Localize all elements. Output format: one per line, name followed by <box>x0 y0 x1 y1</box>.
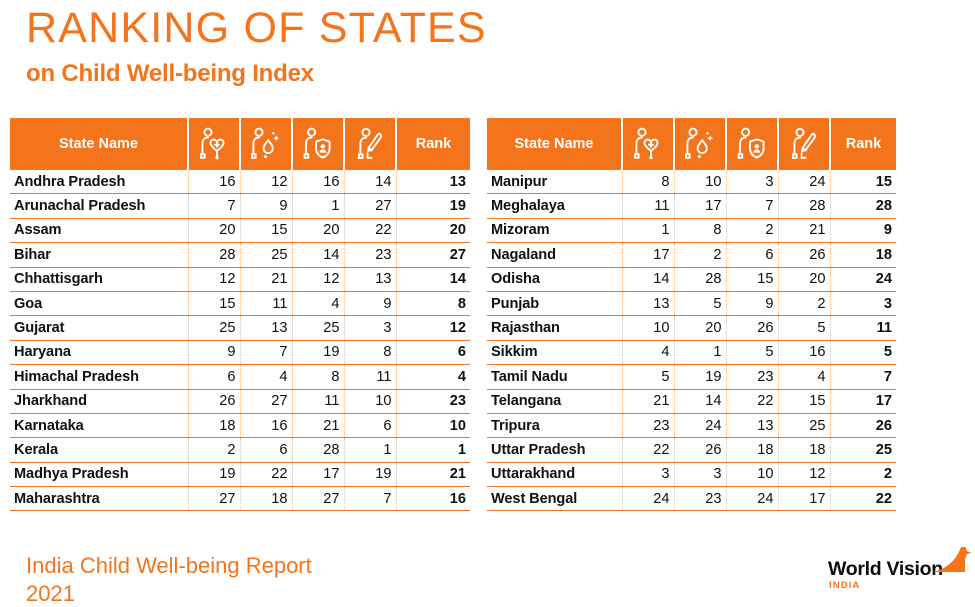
table-row: Uttar Pradesh2226181825 <box>487 438 896 462</box>
cell-water-rank: 18 <box>240 487 292 511</box>
logo-swoosh-star-icon <box>932 546 972 583</box>
table-row: Goa1511498 <box>10 291 470 315</box>
cell-health-rank: 25 <box>188 316 240 340</box>
column-header-health <box>622 118 674 170</box>
column-header-water-sanitation <box>240 118 292 170</box>
cell-protection-rank: 26 <box>726 316 778 340</box>
cell-water-rank: 24 <box>674 413 726 437</box>
cell-water-rank: 28 <box>674 267 726 291</box>
cell-state-name: Telangana <box>487 389 622 413</box>
cell-education-rank: 10 <box>344 389 396 413</box>
cell-health-rank: 17 <box>622 243 674 267</box>
cell-health-rank: 13 <box>622 291 674 315</box>
cell-health-rank: 23 <box>622 413 674 437</box>
cell-education-rank: 4 <box>778 365 830 389</box>
cell-protection-rank: 2 <box>726 218 778 242</box>
cell-health-rank: 26 <box>188 389 240 413</box>
table-row: Tamil Nadu5192347 <box>487 365 896 389</box>
world-vision-india-logo: World Vision INDIA <box>828 548 968 594</box>
cell-education-rank: 16 <box>778 340 830 364</box>
cell-protection-rank: 23 <box>726 365 778 389</box>
cell-state-name: Nagaland <box>487 243 622 267</box>
cell-overall-rank: 11 <box>830 316 896 340</box>
person-heart-health-icon <box>189 127 239 161</box>
report-title-line1: India Child Well-being Report <box>26 552 312 580</box>
cell-health-rank: 16 <box>188 170 240 194</box>
cell-health-rank: 5 <box>622 365 674 389</box>
cell-health-rank: 27 <box>188 487 240 511</box>
cell-overall-rank: 3 <box>830 291 896 315</box>
table-row: West Bengal2423241722 <box>487 487 896 511</box>
cell-health-rank: 3 <box>622 462 674 486</box>
cell-water-rank: 19 <box>674 365 726 389</box>
cell-education-rank: 11 <box>344 365 396 389</box>
table-row: Telangana2114221517 <box>487 389 896 413</box>
table-row: Madhya Pradesh1922171921 <box>10 462 470 486</box>
report-title-footer: India Child Well-being Report 2021 <box>26 552 312 607</box>
cell-protection-rank: 4 <box>292 291 344 315</box>
cell-state-name: Tamil Nadu <box>487 365 622 389</box>
table-row: Mizoram182219 <box>487 218 896 242</box>
cell-education-rank: 5 <box>778 316 830 340</box>
cell-health-rank: 22 <box>622 438 674 462</box>
table-row: Assam2015202220 <box>10 218 470 242</box>
cell-water-rank: 16 <box>240 413 292 437</box>
cell-state-name: Rajasthan <box>487 316 622 340</box>
table-body: Manipur81032415Meghalaya111772828Mizoram… <box>487 170 896 511</box>
cell-water-rank: 17 <box>674 194 726 218</box>
cell-overall-rank: 5 <box>830 340 896 364</box>
cell-education-rank: 20 <box>778 267 830 291</box>
cell-overall-rank: 21 <box>396 462 470 486</box>
table-row: Meghalaya111772828 <box>487 194 896 218</box>
table-row: Jharkhand2627111023 <box>10 389 470 413</box>
cell-state-name: Bihar <box>10 243 188 267</box>
page-subtitle: on Child Well-being Index <box>26 60 487 88</box>
cell-overall-rank: 15 <box>830 170 896 194</box>
cell-water-rank: 2 <box>674 243 726 267</box>
cell-overall-rank: 12 <box>396 316 470 340</box>
cell-state-name: Haryana <box>10 340 188 364</box>
table-row: Rajasthan102026511 <box>487 316 896 340</box>
cell-overall-rank: 14 <box>396 267 470 291</box>
cell-health-rank: 2 <box>188 438 240 462</box>
cell-overall-rank: 20 <box>396 218 470 242</box>
cell-water-rank: 10 <box>674 170 726 194</box>
column-header-rank: Rank <box>396 118 470 170</box>
table-header-row: State Name <box>10 118 470 170</box>
table-row: Andhra Pradesh1612161413 <box>10 170 470 194</box>
table-row: Arunachal Pradesh7912719 <box>10 194 470 218</box>
cell-water-rank: 8 <box>674 218 726 242</box>
cell-protection-rank: 5 <box>726 340 778 364</box>
cell-state-name: Assam <box>10 218 188 242</box>
cell-overall-rank: 10 <box>396 413 470 437</box>
column-header-water-sanitation <box>674 118 726 170</box>
table-header-row: State Name <box>487 118 896 170</box>
person-pencil-education-icon <box>779 127 829 161</box>
cell-overall-rank: 13 <box>396 170 470 194</box>
cell-water-rank: 15 <box>240 218 292 242</box>
cell-education-rank: 1 <box>344 438 396 462</box>
cell-education-rank: 18 <box>778 438 830 462</box>
cell-education-rank: 3 <box>344 316 396 340</box>
cell-education-rank: 12 <box>778 462 830 486</box>
cell-overall-rank: 9 <box>830 218 896 242</box>
cell-protection-rank: 9 <box>726 291 778 315</box>
cell-overall-rank: 4 <box>396 365 470 389</box>
cell-water-rank: 12 <box>240 170 292 194</box>
cell-water-rank: 21 <box>240 267 292 291</box>
cell-state-name: Manipur <box>487 170 622 194</box>
cell-water-rank: 3 <box>674 462 726 486</box>
cell-health-rank: 18 <box>188 413 240 437</box>
cell-protection-rank: 27 <box>292 487 344 511</box>
cell-water-rank: 26 <box>674 438 726 462</box>
cell-protection-rank: 20 <box>292 218 344 242</box>
cell-overall-rank: 8 <box>396 291 470 315</box>
person-shield-protection-icon <box>293 127 343 161</box>
column-header-state-name: State Name <box>10 118 188 170</box>
cell-overall-rank: 18 <box>830 243 896 267</box>
cell-protection-rank: 25 <box>292 316 344 340</box>
cell-education-rank: 26 <box>778 243 830 267</box>
cell-education-rank: 2 <box>778 291 830 315</box>
person-water-drop-icon <box>675 127 725 161</box>
cell-education-rank: 6 <box>344 413 396 437</box>
cell-education-rank: 24 <box>778 170 830 194</box>
cell-education-rank: 22 <box>344 218 396 242</box>
ranking-table-left: State Name <box>10 118 470 511</box>
table-row: Punjab135923 <box>487 291 896 315</box>
ranking-table-right: State Name <box>487 118 896 511</box>
cell-water-rank: 13 <box>240 316 292 340</box>
cell-education-rank: 9 <box>344 291 396 315</box>
page-header: RANKING OF STATES on Child Well-being In… <box>26 6 487 88</box>
cell-state-name: Arunachal Pradesh <box>10 194 188 218</box>
cell-state-name: Madhya Pradesh <box>10 462 188 486</box>
cell-health-rank: 10 <box>622 316 674 340</box>
cell-protection-rank: 17 <box>292 462 344 486</box>
cell-education-rank: 7 <box>344 487 396 511</box>
cell-water-rank: 27 <box>240 389 292 413</box>
cell-water-rank: 25 <box>240 243 292 267</box>
cell-overall-rank: 28 <box>830 194 896 218</box>
cell-health-rank: 28 <box>188 243 240 267</box>
logo-country-label: INDIA <box>829 580 860 591</box>
cell-health-rank: 1 <box>622 218 674 242</box>
cell-overall-rank: 19 <box>396 194 470 218</box>
cell-overall-rank: 25 <box>830 438 896 462</box>
column-header-state-name: State Name <box>487 118 622 170</box>
column-header-education <box>778 118 830 170</box>
cell-health-rank: 12 <box>188 267 240 291</box>
table-row: Manipur81032415 <box>487 170 896 194</box>
cell-health-rank: 19 <box>188 462 240 486</box>
cell-education-rank: 27 <box>344 194 396 218</box>
cell-education-rank: 17 <box>778 487 830 511</box>
table-body: Andhra Pradesh1612161413Arunachal Prades… <box>10 170 470 511</box>
cell-state-name: Punjab <box>487 291 622 315</box>
cell-protection-rank: 15 <box>726 267 778 291</box>
table-row: Uttarakhand3310122 <box>487 462 896 486</box>
cell-water-rank: 4 <box>240 365 292 389</box>
cell-overall-rank: 7 <box>830 365 896 389</box>
cell-overall-rank: 6 <box>396 340 470 364</box>
cell-water-rank: 7 <box>240 340 292 364</box>
cell-education-rank: 28 <box>778 194 830 218</box>
person-heart-health-icon <box>623 127 673 161</box>
cell-state-name: Maharashtra <box>10 487 188 511</box>
cell-state-name: Odisha <box>487 267 622 291</box>
report-title-line2: 2021 <box>26 580 312 607</box>
table-row: Bihar2825142327 <box>10 243 470 267</box>
cell-protection-rank: 13 <box>726 413 778 437</box>
cell-water-rank: 9 <box>240 194 292 218</box>
table-row: Maharashtra271827716 <box>10 487 470 511</box>
cell-protection-rank: 6 <box>726 243 778 267</box>
cell-protection-rank: 10 <box>726 462 778 486</box>
cell-protection-rank: 11 <box>292 389 344 413</box>
cell-overall-rank: 2 <box>830 462 896 486</box>
cell-health-rank: 15 <box>188 291 240 315</box>
table-row: Chhattisgarh1221121314 <box>10 267 470 291</box>
cell-protection-rank: 12 <box>292 267 344 291</box>
cell-state-name: West Bengal <box>487 487 622 511</box>
cell-protection-rank: 19 <box>292 340 344 364</box>
table-row: Sikkim415165 <box>487 340 896 364</box>
column-header-protection <box>726 118 778 170</box>
table-row: Tripura2324132526 <box>487 413 896 437</box>
cell-state-name: Mizoram <box>487 218 622 242</box>
cell-health-rank: 7 <box>188 194 240 218</box>
column-header-education <box>344 118 396 170</box>
cell-protection-rank: 16 <box>292 170 344 194</box>
cell-health-rank: 9 <box>188 340 240 364</box>
cell-water-rank: 5 <box>674 291 726 315</box>
cell-water-rank: 11 <box>240 291 292 315</box>
cell-education-rank: 25 <box>778 413 830 437</box>
cell-protection-rank: 1 <box>292 194 344 218</box>
cell-protection-rank: 18 <box>726 438 778 462</box>
cell-protection-rank: 8 <box>292 365 344 389</box>
column-header-protection <box>292 118 344 170</box>
cell-overall-rank: 1 <box>396 438 470 462</box>
cell-health-rank: 6 <box>188 365 240 389</box>
cell-health-rank: 11 <box>622 194 674 218</box>
person-shield-protection-icon <box>727 127 777 161</box>
cell-education-rank: 19 <box>344 462 396 486</box>
cell-protection-rank: 21 <box>292 413 344 437</box>
cell-protection-rank: 3 <box>726 170 778 194</box>
cell-state-name: Gujarat <box>10 316 188 340</box>
cell-water-rank: 22 <box>240 462 292 486</box>
cell-protection-rank: 7 <box>726 194 778 218</box>
page-title: RANKING OF STATES <box>26 6 487 51</box>
cell-state-name: Himachal Pradesh <box>10 365 188 389</box>
cell-water-rank: 1 <box>674 340 726 364</box>
cell-state-name: Andhra Pradesh <box>10 170 188 194</box>
person-water-drop-icon <box>241 127 291 161</box>
cell-water-rank: 14 <box>674 389 726 413</box>
cell-health-rank: 21 <box>622 389 674 413</box>
cell-overall-rank: 16 <box>396 487 470 511</box>
cell-state-name: Meghalaya <box>487 194 622 218</box>
table-row: Karnataka181621610 <box>10 413 470 437</box>
column-header-health <box>188 118 240 170</box>
table-row: Nagaland17262618 <box>487 243 896 267</box>
cell-education-rank: 15 <box>778 389 830 413</box>
cell-protection-rank: 22 <box>726 389 778 413</box>
table-row: Odisha1428152024 <box>487 267 896 291</box>
cell-overall-rank: 17 <box>830 389 896 413</box>
cell-overall-rank: 24 <box>830 267 896 291</box>
person-pencil-education-icon <box>345 127 395 161</box>
cell-water-rank: 23 <box>674 487 726 511</box>
cell-overall-rank: 27 <box>396 243 470 267</box>
cell-overall-rank: 22 <box>830 487 896 511</box>
cell-protection-rank: 28 <box>292 438 344 462</box>
cell-state-name: Karnataka <box>10 413 188 437</box>
cell-state-name: Goa <box>10 291 188 315</box>
cell-state-name: Sikkim <box>487 340 622 364</box>
cell-state-name: Uttar Pradesh <box>487 438 622 462</box>
cell-education-rank: 13 <box>344 267 396 291</box>
cell-state-name: Chhattisgarh <box>10 267 188 291</box>
cell-state-name: Tripura <box>487 413 622 437</box>
table-row: Himachal Pradesh648114 <box>10 365 470 389</box>
cell-education-rank: 21 <box>778 218 830 242</box>
table-row: Gujarat251325312 <box>10 316 470 340</box>
cell-education-rank: 8 <box>344 340 396 364</box>
logo-wordmark: World Vision <box>828 558 943 581</box>
cell-water-rank: 6 <box>240 438 292 462</box>
cell-state-name: Jharkhand <box>10 389 188 413</box>
cell-overall-rank: 23 <box>396 389 470 413</box>
cell-health-rank: 8 <box>622 170 674 194</box>
cell-state-name: Uttarakhand <box>487 462 622 486</box>
column-header-rank: Rank <box>830 118 896 170</box>
cell-water-rank: 20 <box>674 316 726 340</box>
cell-education-rank: 23 <box>344 243 396 267</box>
cell-state-name: Kerala <box>10 438 188 462</box>
cell-overall-rank: 26 <box>830 413 896 437</box>
cell-health-rank: 14 <box>622 267 674 291</box>
cell-protection-rank: 24 <box>726 487 778 511</box>
cell-protection-rank: 14 <box>292 243 344 267</box>
cell-health-rank: 24 <box>622 487 674 511</box>
cell-health-rank: 20 <box>188 218 240 242</box>
cell-education-rank: 14 <box>344 170 396 194</box>
table-row: Kerala262811 <box>10 438 470 462</box>
cell-health-rank: 4 <box>622 340 674 364</box>
table-row: Haryana971986 <box>10 340 470 364</box>
